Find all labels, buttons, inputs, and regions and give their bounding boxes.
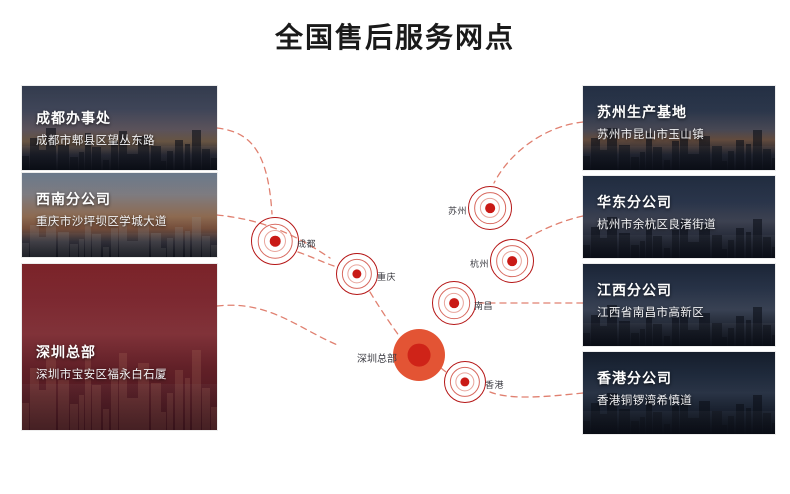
map-marker-label-hongkong: 香港 [485, 378, 504, 391]
location-card-right-0[interactable]: 苏州生产基地苏州市昆山市玉山镇 [583, 86, 775, 170]
card-text-block: 西南分公司重庆市沙坪坝区学城大道 [22, 189, 217, 229]
card-title: 香港分公司 [597, 368, 761, 388]
card-address: 成都市郫县区望丛东路 [36, 132, 203, 148]
card-text-block: 苏州生产基地苏州市昆山市玉山镇 [583, 102, 775, 142]
location-card-left-1[interactable]: 西南分公司重庆市沙坪坝区学城大道 [22, 173, 217, 257]
card-title: 西南分公司 [36, 189, 203, 209]
map-marker-label-chengdu: 成都 [297, 237, 316, 250]
card-address: 重庆市沙坪坝区学城大道 [36, 213, 203, 229]
location-card-left-0[interactable]: 成都办事处成都市郫县区望丛东路 [22, 86, 217, 170]
marker-dot [485, 203, 495, 213]
location-card-right-2[interactable]: 江西分公司江西省南昌市高新区 [583, 264, 775, 346]
card-text-block: 江西分公司江西省南昌市高新区 [583, 280, 775, 320]
card-title: 江西分公司 [597, 280, 761, 300]
connector-hongkong-card [490, 392, 583, 397]
marker-rings [490, 239, 534, 283]
map-marker-label-nanchang: 南昌 [474, 299, 493, 312]
map-marker-suzhou[interactable] [468, 186, 512, 230]
card-title: 深圳总部 [36, 342, 203, 362]
card-title: 苏州生产基地 [597, 102, 761, 122]
hq-inner-circle [408, 344, 431, 367]
map-marker-nanchang[interactable] [432, 281, 476, 325]
map-marker-shenzhen-hq[interactable] [393, 329, 445, 381]
card-text-block: 华东分公司杭州市余杭区良渚街道 [583, 192, 775, 232]
marker-rings [251, 217, 299, 265]
card-text-block: 深圳总部深圳市宝安区福永白石厦 [22, 342, 217, 382]
location-card-left-2[interactable]: 深圳总部深圳市宝安区福永白石厦 [22, 264, 217, 430]
map-marker-label-suzhou: 苏州 [448, 204, 467, 217]
connector-hangzhou-card [524, 216, 583, 240]
card-address: 江西省南昌市高新区 [597, 304, 761, 320]
card-address: 深圳市宝安区福永白石厦 [36, 366, 203, 382]
map-marker-hangzhou[interactable] [490, 239, 534, 283]
location-card-right-1[interactable]: 华东分公司杭州市余杭区良渚街道 [583, 176, 775, 258]
map-marker-label-shenzhen-hq: 深圳总部 [357, 350, 397, 365]
card-title: 华东分公司 [597, 192, 761, 212]
map-marker-label-hangzhou: 杭州 [470, 257, 489, 270]
map-marker-chongqing[interactable] [336, 253, 378, 295]
card-address: 苏州市昆山市玉山镇 [597, 126, 761, 142]
card-address: 杭州市余杭区良渚街道 [597, 216, 761, 232]
card-text-block: 成都办事处成都市郫县区望丛东路 [22, 108, 217, 148]
card-text-block: 香港分公司香港铜锣湾希慎道 [583, 368, 775, 408]
marker-rings [336, 253, 378, 295]
card-title: 成都办事处 [36, 108, 203, 128]
marker-dot [507, 256, 517, 266]
marker-dot [449, 298, 459, 308]
map-marker-hongkong[interactable] [444, 361, 486, 403]
map-marker-label-chongqing: 重庆 [377, 270, 396, 283]
connector-chengdu-chongqing [298, 252, 334, 266]
marker-dot [270, 236, 281, 247]
marker-rings [444, 361, 486, 403]
connector-suzhou-card [494, 122, 583, 183]
marker-rings [432, 281, 476, 325]
card-address: 香港铜锣湾希慎道 [597, 392, 761, 408]
connector-shenzhen-card [217, 305, 340, 346]
map-marker-chengdu[interactable] [251, 217, 299, 265]
location-card-right-3[interactable]: 香港分公司香港铜锣湾希慎道 [583, 352, 775, 434]
marker-rings [468, 186, 512, 230]
connector-chengdu-card [217, 128, 272, 214]
slide-canvas: 全国售后服务网点 成都重庆苏州杭州南昌香港深圳总部 成都办事处成都市郫县区望丛东… [0, 0, 790, 494]
